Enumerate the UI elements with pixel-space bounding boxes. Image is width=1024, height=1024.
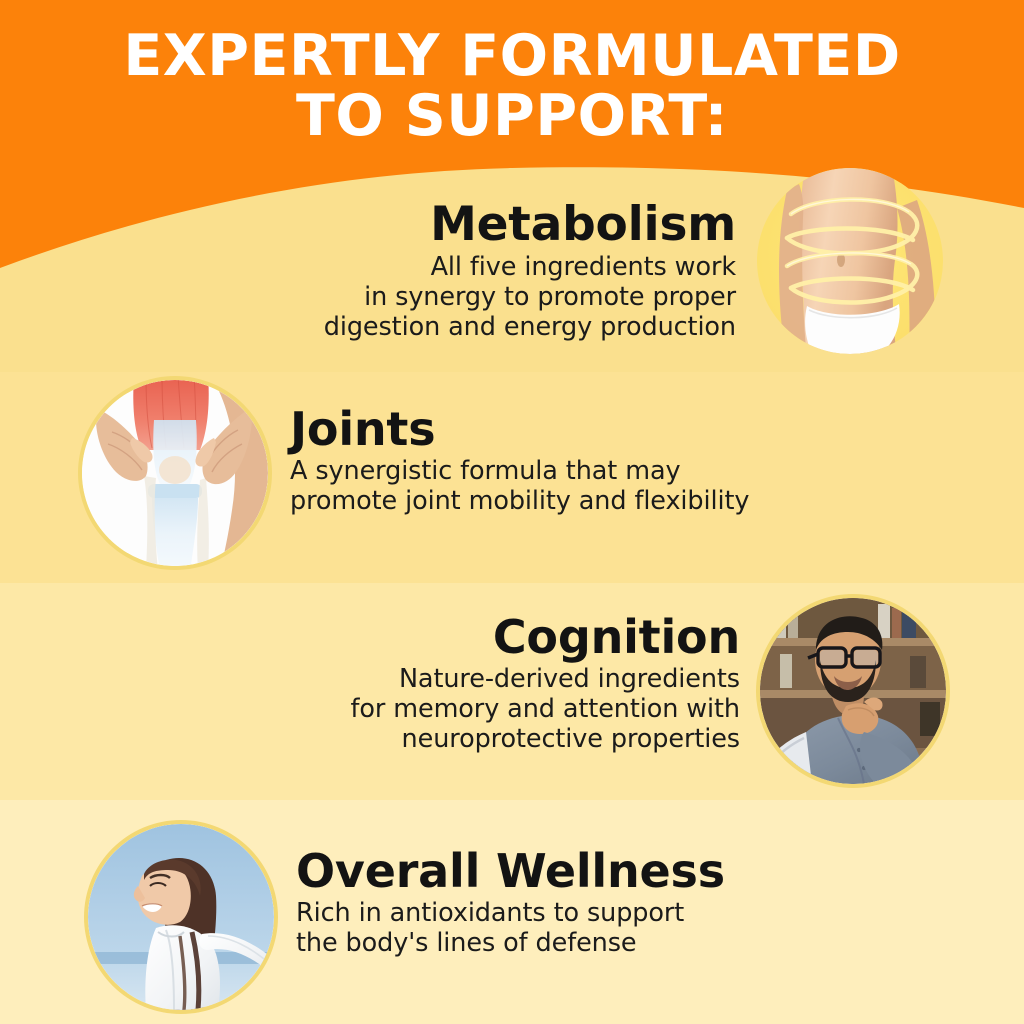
man-thinking-at-laptop-photo <box>760 598 946 784</box>
woman-arms-open-sky-photo <box>88 824 274 1010</box>
section-overall-wellness-description: Rich in antioxidants to support the body… <box>296 898 896 958</box>
section-cognition-text: Cognition Nature-derived ingredients for… <box>232 612 740 754</box>
section-metabolism-description: All five ingredients work in synergy to … <box>188 252 736 342</box>
section-metabolism-title: Metabolism <box>188 200 736 250</box>
section-joints-title: Joints <box>290 404 890 454</box>
section-joints-description: A synergistic formula that may promote j… <box>290 456 890 516</box>
section-cognition-title: Cognition <box>232 612 740 662</box>
woman-torso-measuring-tape-photo <box>757 168 943 354</box>
section-overall-wellness-text: Overall Wellness Rich in antioxidants to… <box>296 846 896 958</box>
page-title: EXPERTLY FORMULATED TO SUPPORT: <box>0 0 1024 146</box>
knee-joint-anatomy-photo <box>82 380 268 566</box>
section-cognition-description: Nature-derived ingredients for memory an… <box>232 664 740 754</box>
promo-poster: EXPERTLY FORMULATED TO SUPPORT: Metaboli… <box>0 0 1024 1024</box>
header-line-1: EXPERTLY FORMULATED <box>123 23 900 89</box>
header-line-2: TO SUPPORT: <box>0 86 1024 146</box>
section-overall-wellness-title: Overall Wellness <box>296 846 896 896</box>
section-joints-text: Joints A synergistic formula that may pr… <box>290 404 890 516</box>
section-metabolism-text: Metabolism All five ingredients work in … <box>188 200 736 342</box>
